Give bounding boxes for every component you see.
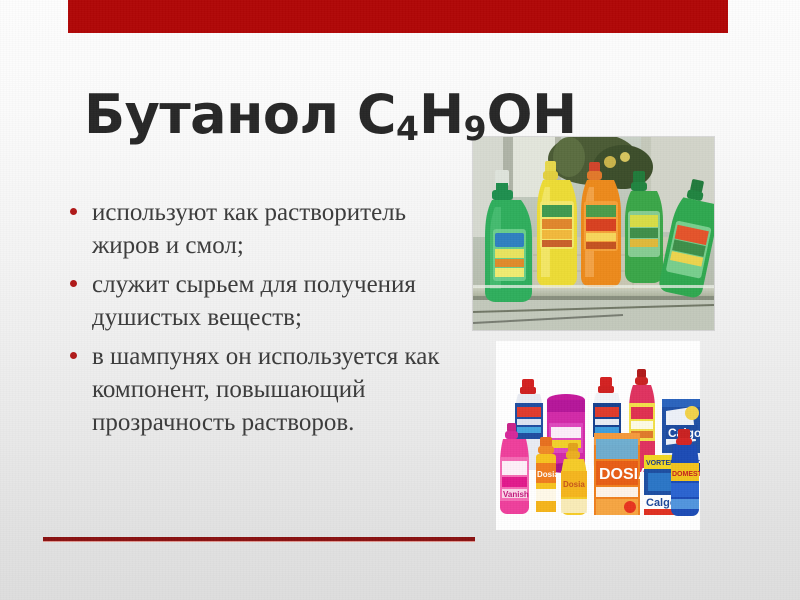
list-item: служит сырьем для получения душистых вещ… <box>64 268 476 334</box>
page-title: Бутанол C4H9OH <box>84 84 724 154</box>
list-item: в шампунях он используется как компонент… <box>64 340 476 439</box>
list-item-text: используют как растворитель жиров и смол… <box>92 199 406 259</box>
slide-canvas: Бутанол C4H9OH используют как растворите… <box>0 0 800 600</box>
svg-text:Dosia: Dosia <box>537 470 559 479</box>
svg-text:DOSIA: DOSIA <box>599 466 650 483</box>
svg-text:DOMESTOS: DOMESTOS <box>672 471 700 478</box>
bullet-dot-icon <box>70 280 77 287</box>
title-text-main: Бутанол C <box>84 83 396 146</box>
bottom-divider-glow <box>43 541 475 542</box>
list-item: используют как растворитель жиров и смол… <box>64 196 476 262</box>
svg-text:Dosia: Dosia <box>563 480 585 489</box>
cleaning-products-illustration: Calgon Vanish <box>496 341 700 530</box>
top-accent-bar <box>68 0 728 33</box>
bullet-dot-icon <box>70 208 77 215</box>
title-subscript-4: 4 <box>396 109 419 148</box>
bullet-dot-icon <box>70 352 77 359</box>
title-subscript-9: 9 <box>464 109 487 148</box>
bullet-list: используют как растворитель жиров и смол… <box>64 196 476 445</box>
image-cleaning-products: Calgon Vanish <box>496 341 700 530</box>
svg-text:Vanish: Vanish <box>503 490 529 499</box>
soap-bottles-illustration <box>473 137 714 330</box>
list-item-text: в шампунях он используется как компонент… <box>92 343 439 436</box>
title-text-h: H <box>419 83 464 146</box>
image-soap-bottles <box>473 137 714 330</box>
title-text-oh: OH <box>487 83 577 146</box>
list-item-text: служит сырьем для получения душистых вещ… <box>92 271 416 331</box>
